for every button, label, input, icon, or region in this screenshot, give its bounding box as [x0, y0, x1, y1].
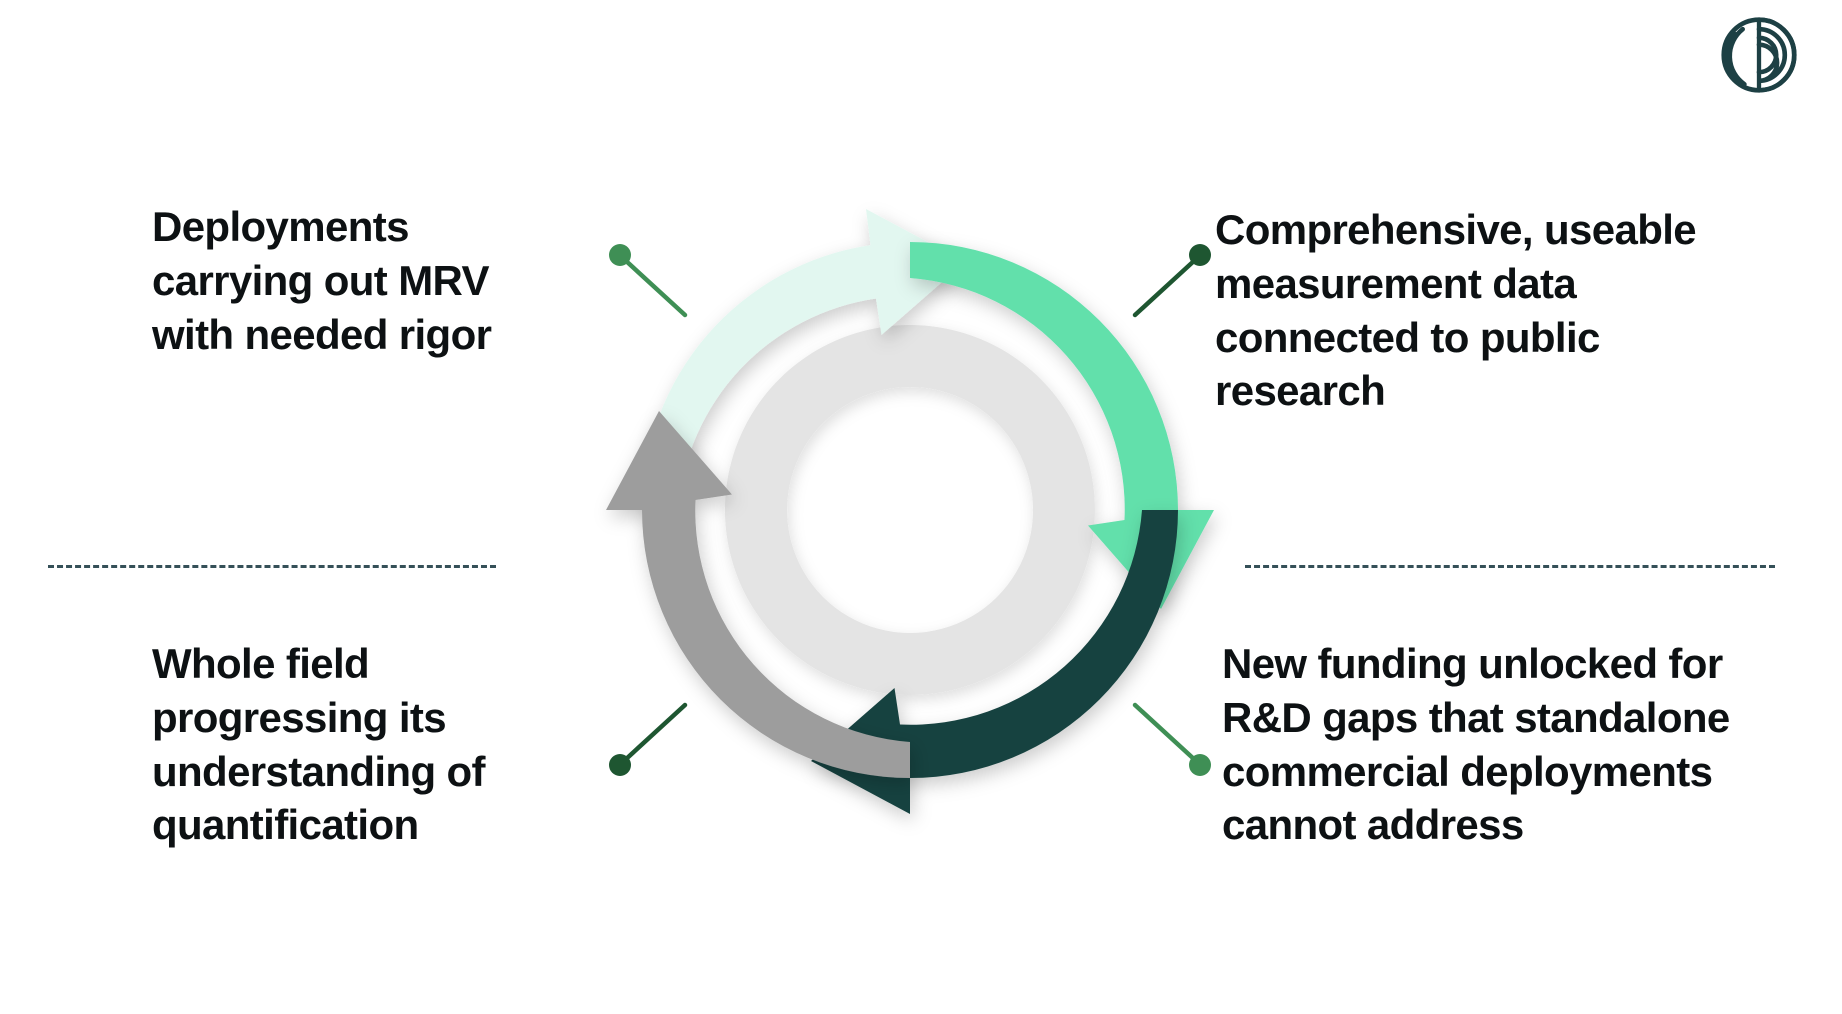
cycle-diagram — [570, 165, 1250, 855]
swirl-leaf-logo-icon — [1716, 12, 1802, 98]
callout-new-funding: New funding unlocked for R&D gaps that s… — [1222, 637, 1822, 852]
slide-root: { "brand": { "logo_icon": "swirl-leaf-lo… — [0, 0, 1842, 1014]
connector-bottom-right — [1135, 705, 1211, 776]
callout-measurement-data: Comprehensive, useable measurement data … — [1215, 203, 1815, 418]
connector-dot — [609, 244, 631, 266]
connector-bottom-left — [609, 705, 685, 776]
connector-top-right — [1135, 244, 1211, 315]
cycle-diagram-svg — [570, 165, 1250, 855]
connector-top-left — [609, 244, 685, 315]
callout-deployments-mrv: Deployments carrying out MRV with needed… — [152, 200, 582, 361]
connector-dot — [1189, 244, 1211, 266]
inner-ring — [725, 325, 1095, 695]
connector-dot — [1189, 754, 1211, 776]
brand-logo — [1716, 12, 1802, 98]
divider-right — [1245, 565, 1775, 568]
connector-dot — [609, 754, 631, 776]
divider-left — [48, 565, 496, 568]
callout-field-progress: Whole field progressing its understandin… — [152, 637, 582, 852]
